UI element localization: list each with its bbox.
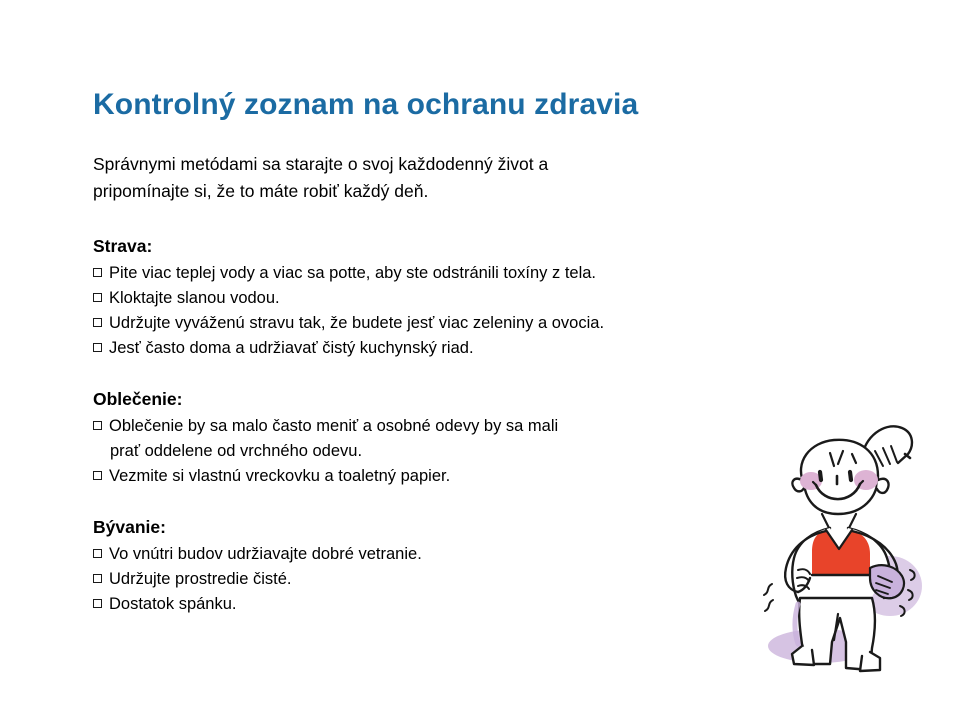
checklist-item[interactable]: Kloktajte slanou vodou. <box>93 286 793 311</box>
checklist-item-label: Kloktajte slanou vodou. <box>109 289 280 307</box>
checklist-item[interactable]: Udržujte prostredie čisté. <box>93 567 793 592</box>
checklist-item-label: Oblečenie by sa malo často meniť a osobn… <box>109 417 558 435</box>
checklist-item-label: Vo vnútri budov udržiavajte dobré vetran… <box>109 545 422 563</box>
section-heading-strava: Strava: <box>93 234 793 259</box>
checkbox-icon[interactable] <box>93 471 102 480</box>
checklist-item-continuation: prať oddelene od vrchného odevu. <box>93 439 793 464</box>
slide-canvas: Kontrolný zoznam na ochranu zdravia Sprá… <box>0 0 960 720</box>
checkbox-icon[interactable] <box>93 599 102 608</box>
checkbox-icon[interactable] <box>93 343 102 352</box>
checklist-item-label: Udržujte prostredie čisté. <box>109 570 292 588</box>
section-oblecenie: Oblečenie: Oblečenie by sa malo často me… <box>93 387 793 489</box>
section-strava: Strava: Pite viac teplej vody a viac sa … <box>93 234 793 361</box>
intro-line-2: pripomínajte si, že to máte robiť každý … <box>93 178 793 205</box>
checkbox-icon[interactable] <box>93 549 102 558</box>
checklist-item[interactable]: Vo vnútri budov udržiavajte dobré vetran… <box>93 542 793 567</box>
checkbox-icon[interactable] <box>93 318 102 327</box>
slide-body: Správnymi metódami sa starajte o svoj ka… <box>93 151 793 617</box>
checklist-item[interactable]: Pite viac teplej vody a viac sa potte, a… <box>93 261 793 286</box>
section-heading-byvanie: Bývanie: <box>93 515 793 540</box>
cartoon-child-icon <box>742 418 960 680</box>
page-title: Kontrolný zoznam na ochranu zdravia <box>93 88 638 122</box>
checklist-item-label: Pite viac teplej vody a viac sa potte, a… <box>109 264 596 282</box>
checklist-item[interactable]: Oblečenie by sa malo často meniť a osobn… <box>93 414 793 439</box>
checkbox-icon[interactable] <box>93 268 102 277</box>
checklist-item-label: Udržujte vyváženú stravu tak, že budete … <box>109 314 604 332</box>
checklist-item-label: Vezmite si vlastnú vreckovku a toaletný … <box>109 467 450 485</box>
checkbox-icon[interactable] <box>93 293 102 302</box>
checklist-item[interactable]: Vezmite si vlastnú vreckovku a toaletný … <box>93 464 793 489</box>
checkbox-icon[interactable] <box>93 574 102 583</box>
checklist-item[interactable]: Udržujte vyváženú stravu tak, že budete … <box>93 311 793 336</box>
checklist-item-label: Dostatok spánku. <box>109 595 237 613</box>
section-byvanie: Bývanie: Vo vnútri budov udržiavajte dob… <box>93 515 793 617</box>
checkbox-icon[interactable] <box>93 421 102 430</box>
intro-paragraph: Správnymi metódami sa starajte o svoj ka… <box>93 151 793 205</box>
section-heading-oblecenie: Oblečenie: <box>93 387 793 412</box>
cartoon-child-illustration <box>742 418 960 680</box>
checklist-item-label: Jesť často doma a udržiavať čistý kuchyn… <box>109 339 474 357</box>
checklist-item[interactable]: Jesť často doma a udržiavať čistý kuchyn… <box>93 336 793 361</box>
checklist-item[interactable]: Dostatok spánku. <box>93 592 793 617</box>
intro-line-1: Správnymi metódami sa starajte o svoj ka… <box>93 151 793 178</box>
